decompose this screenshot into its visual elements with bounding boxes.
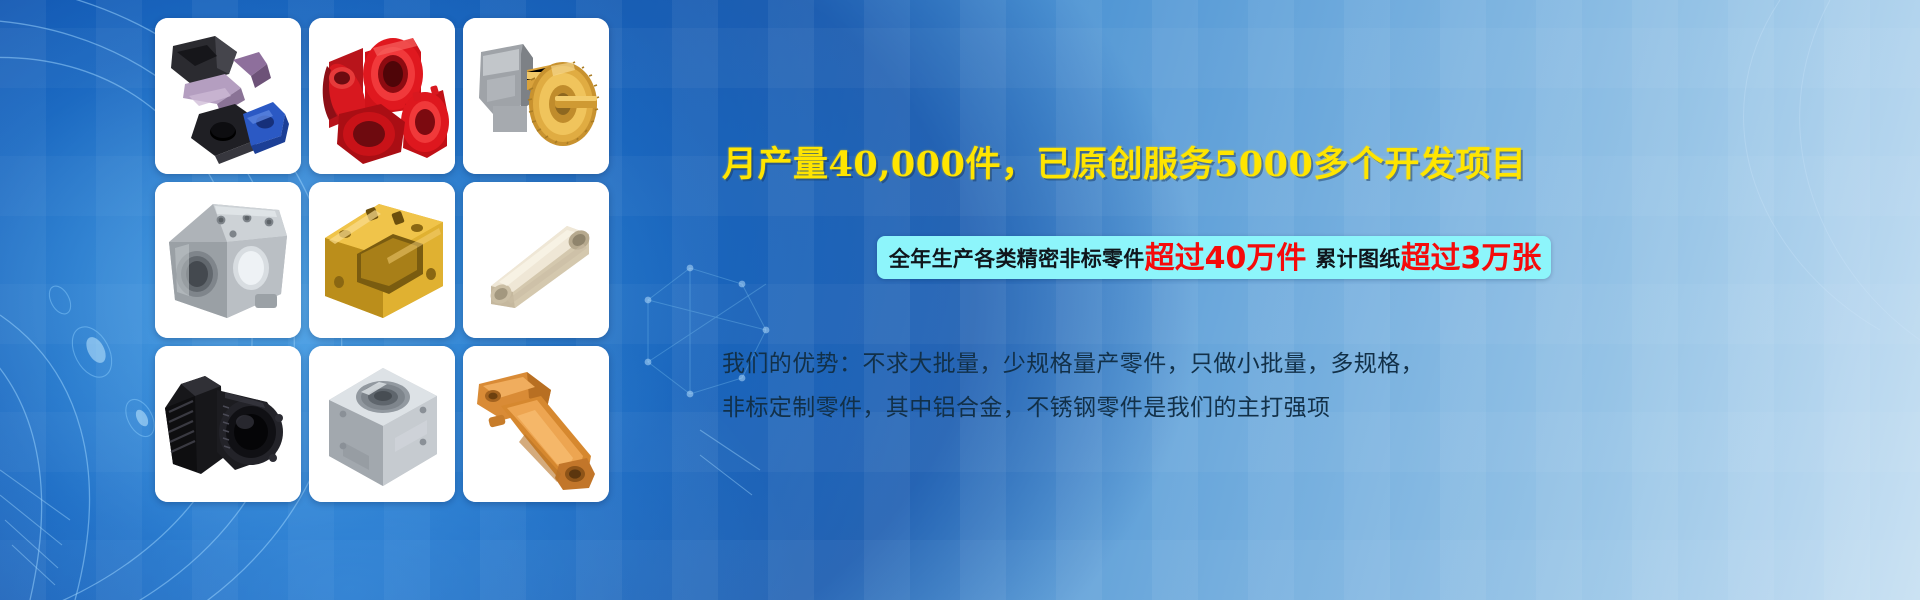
silver-cube-block-image (309, 346, 455, 502)
gallery-item-silver-cube-block[interactable] (309, 346, 455, 502)
copper-bracket-arm-image (463, 346, 609, 502)
band-middle-text: 累计图纸 (1315, 243, 1400, 273)
advantages-line-1: 我们的优势：不求大批量，少规格量产零件，只做小批量，多规格， (722, 342, 1462, 386)
gallery-item-anodized-bracket-parts[interactable] (155, 18, 301, 174)
advantages-paragraph: 我们的优势：不求大批量，少规格量产零件，只做小批量，多规格， 非标定制零件，其中… (722, 342, 1462, 430)
product-gallery (155, 18, 609, 502)
gallery-item-aluminum-housing-block[interactable] (155, 182, 301, 338)
gallery-item-red-anodized-cylinders[interactable] (309, 18, 455, 174)
brass-worm-gear-shaft-image (463, 18, 609, 174)
highlight-band: 全年生产各类精密非标零件 超过40万件 累计图纸 超过3万张 (877, 236, 1551, 279)
gallery-item-brass-worm-gear-shaft[interactable] (463, 18, 609, 174)
band-emphasis-production: 超过40万件 (1145, 244, 1307, 274)
page-title: 月产量40,000件，已原创服务5000多个开发项目 (722, 140, 1902, 190)
gallery-item-black-ribbed-housing[interactable] (155, 346, 301, 502)
black-ribbed-housing-image (155, 346, 301, 502)
promo-banner: 月产量40,000件，已原创服务5000多个开发项目 全年生产各类精密非标零件 … (0, 0, 1920, 600)
aluminum-housing-block-image (155, 182, 301, 338)
gallery-item-beige-plastic-tube[interactable] (463, 182, 609, 338)
band-emphasis-drawings: 超过3万张 (1401, 244, 1542, 274)
band-lead-text: 全年生产各类精密非标零件 (889, 243, 1145, 273)
gold-mold-plate-image (309, 182, 455, 338)
gallery-item-gold-mold-plate[interactable] (309, 182, 455, 338)
advantages-line-2: 非标定制零件，其中铝合金，不锈钢零件是我们的主打强项 (722, 386, 1462, 430)
anodized-bracket-parts-image (155, 18, 301, 174)
gallery-item-copper-bracket-arm[interactable] (463, 346, 609, 502)
red-anodized-cylinders-image (309, 18, 455, 174)
beige-plastic-tube-image (463, 182, 609, 338)
